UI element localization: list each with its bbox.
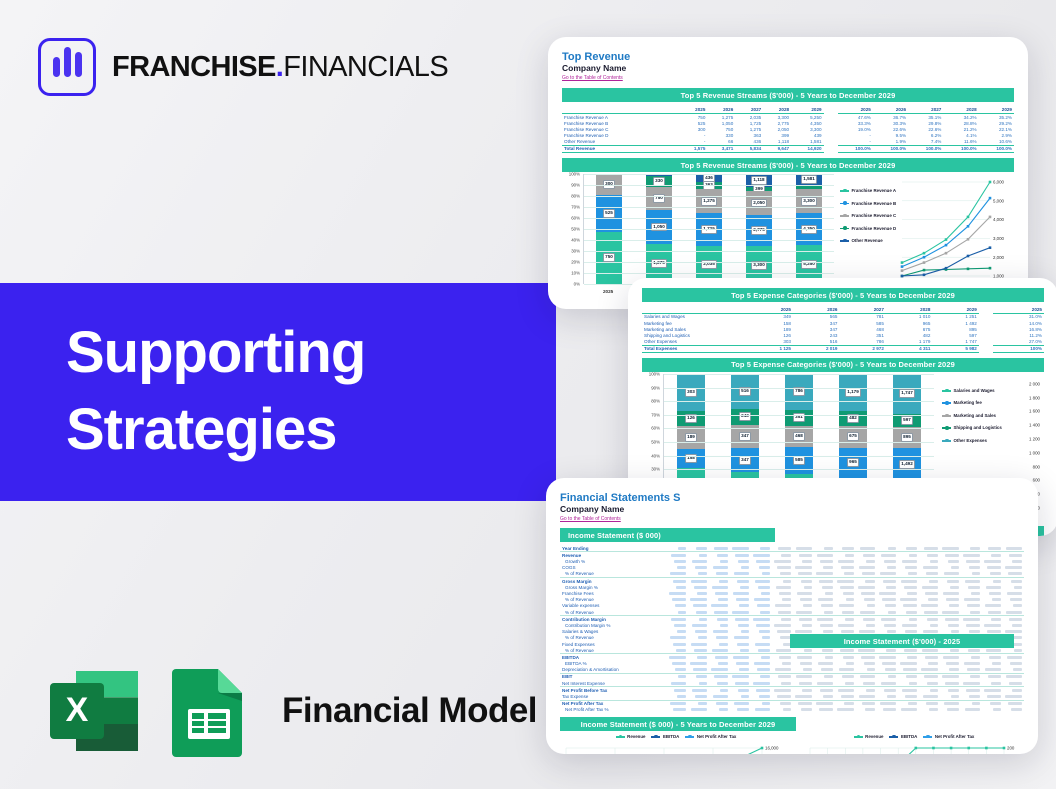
cell (877, 578, 898, 585)
cell (709, 552, 730, 559)
cell (751, 571, 772, 578)
legend-item: Shipping and Logistics (942, 425, 1004, 431)
cell (898, 597, 919, 603)
cell (772, 693, 793, 700)
bar-segment: 1,179 (839, 374, 867, 411)
cell (877, 707, 898, 713)
cell (919, 571, 940, 578)
table-row: Other Expenses 3035167861 1791 74727.0% (642, 339, 1044, 346)
cell (688, 654, 709, 661)
cell (877, 571, 898, 578)
legend-label: Net Profit After Tax (697, 734, 737, 740)
cell (814, 597, 835, 603)
cell (961, 667, 982, 674)
brand-wordmark: FRANCHISE.FINANCIALS (112, 51, 448, 84)
cell (961, 552, 982, 559)
y-tick-right: 1 400 (1029, 423, 1040, 428)
cell (1003, 545, 1024, 552)
y-tick: 2,000 (993, 255, 1005, 260)
cell (898, 616, 919, 623)
revenue-chart-band: Top 5 Revenue Streams ($'000) - 5 Years … (562, 158, 1014, 172)
cell (856, 565, 877, 571)
bar-segment: 516 (731, 374, 759, 409)
cell (793, 616, 814, 623)
bar-segment: 3,300 (796, 189, 822, 213)
cell (982, 578, 1003, 585)
cell (919, 578, 940, 585)
cell (772, 545, 793, 552)
y-tick: 6,000 (993, 180, 1005, 185)
cell (919, 680, 940, 687)
th-year: 2029 (791, 106, 824, 113)
table-total-row: Total Revenue 1,5753,4715,8349,64714,920… (562, 145, 1014, 152)
cell (919, 700, 940, 707)
revenue-table: 2025 2026 2027 2028 2029 2025 2026 2027 … (562, 106, 1014, 153)
bar-chart-logo-icon (38, 38, 96, 96)
y-tick: 80% (571, 194, 580, 199)
cell (709, 565, 730, 571)
legend-item: Revenue (616, 734, 646, 740)
cell (709, 673, 730, 680)
cell (919, 603, 940, 609)
legend-item: Marketing fee (942, 400, 1004, 406)
row-label: Year Ending (560, 545, 667, 552)
cell (856, 545, 877, 552)
bar-segment: 1,492 (893, 448, 921, 482)
y-tick: 70% (651, 412, 660, 417)
th-year-pct: 2028 (943, 106, 978, 113)
row-label: Net Interest Expense (560, 680, 667, 687)
table-row: Franchise Revenue A 7501,2752,0353,3005,… (562, 113, 1014, 120)
y-tick-right: 2 000 (1029, 381, 1040, 386)
cell (835, 571, 856, 578)
cell (1003, 647, 1024, 654)
cell (688, 609, 709, 616)
cell (751, 545, 772, 552)
income-5yr-line-chart: RevenueEBITDANet Profit After Tax 16,000… (560, 734, 792, 754)
cell (898, 707, 919, 713)
cell (898, 647, 919, 654)
cell (898, 700, 919, 707)
cell (919, 552, 940, 559)
revenue-company-name: Company Name (562, 63, 1014, 74)
cell (667, 700, 688, 707)
cell (1003, 565, 1024, 571)
cell (667, 635, 688, 641)
cell (835, 693, 856, 700)
cell (814, 661, 835, 667)
cell (730, 552, 751, 559)
cell (898, 609, 919, 616)
cell (772, 707, 793, 713)
cell (814, 707, 835, 713)
bar-segment: 1,275 (696, 189, 722, 213)
cell (688, 661, 709, 667)
cell (898, 687, 919, 694)
cell (709, 707, 730, 713)
bar-segment: 303 (677, 374, 705, 411)
cell (982, 609, 1003, 616)
revenue-table-band: Top 5 Revenue Streams ($'000) - 5 Years … (562, 88, 1014, 102)
cell (793, 680, 814, 687)
cell (793, 673, 814, 680)
cell (793, 590, 814, 596)
cell (751, 693, 772, 700)
cell (751, 647, 772, 654)
legend-label: Franchise Revenue B (852, 201, 897, 207)
legend-label: Marketing and Sales (954, 413, 996, 419)
cell (982, 622, 1003, 628)
revenue-line-chart: 6,0005,0004,0003,0002,0001,0002025202620… (898, 176, 1014, 290)
cell (877, 667, 898, 674)
table-row: Gross Margin (560, 578, 1024, 585)
cell (688, 597, 709, 603)
cell (793, 707, 814, 713)
bar-segment: 351 (785, 410, 813, 426)
cell (877, 647, 898, 654)
cell (709, 584, 730, 590)
cell (751, 616, 772, 623)
cell (898, 545, 919, 552)
brand-name-light: FINANCIALS (283, 51, 448, 83)
table-row: Year Ending (560, 545, 1024, 552)
cell (688, 571, 709, 578)
cell (898, 622, 919, 628)
y-tick: 30% (571, 249, 580, 254)
cell (982, 559, 1003, 565)
cell (961, 700, 982, 707)
income-statement-band: Income Statement ($ 000) (560, 528, 775, 542)
cell (688, 647, 709, 654)
cell (688, 707, 709, 713)
cell (877, 680, 898, 687)
cell (772, 571, 793, 578)
cell (772, 687, 793, 694)
cell (688, 693, 709, 700)
y-tick: 200 (1007, 745, 1015, 750)
cell (688, 622, 709, 628)
table-total-row: Total Expenses 1 1252 0192 9724 3115 982… (642, 345, 1044, 352)
bar-segment: 158 (677, 449, 705, 468)
bar-segment: 1,050 (646, 210, 672, 243)
cell (1003, 687, 1024, 694)
cell (688, 673, 709, 680)
revenue-chart-legend: Franchise Revenue AFranchise Revenue BFr… (840, 188, 898, 251)
cell (982, 616, 1003, 623)
y-tick: 14,000 (765, 752, 779, 754)
cell (688, 700, 709, 707)
cell (919, 616, 940, 623)
cell (751, 654, 772, 661)
cell (940, 673, 961, 680)
cell (898, 673, 919, 680)
y-tick: 0% (574, 282, 580, 287)
cell (730, 647, 751, 654)
income-2025-band: Income Statement ($'000) - 2025 (790, 634, 1014, 648)
legend-item: Franchise Revenue C (840, 213, 898, 219)
line-series (902, 217, 990, 271)
cell (856, 584, 877, 590)
cell (835, 647, 856, 654)
cell (898, 552, 919, 559)
cell (961, 680, 982, 687)
row-label: Tax Expense (560, 693, 667, 700)
cell (982, 700, 1003, 707)
cell (835, 687, 856, 694)
table-row: % of Revenue (560, 647, 1024, 654)
row-label: EBITDA (560, 654, 667, 661)
cell (772, 578, 793, 585)
cell (835, 545, 856, 552)
row-label: Depreciation & Amortisation (560, 667, 667, 674)
cell (961, 609, 982, 616)
cell (709, 647, 730, 654)
cell (877, 590, 898, 596)
cell (835, 603, 856, 609)
x-tick: 2025 (595, 289, 621, 294)
cell (835, 680, 856, 687)
cell (772, 559, 793, 565)
legend-label: Franchise Revenue C (852, 213, 897, 219)
cell (961, 654, 982, 661)
cell (940, 590, 961, 596)
cell (940, 552, 961, 559)
cell (709, 616, 730, 623)
table-row: Salaries and Wages 3495657811 0101 25131… (642, 313, 1044, 320)
cell (772, 603, 793, 609)
cell (772, 584, 793, 590)
cell (982, 707, 1003, 713)
legend-label: EBITDA (901, 734, 917, 740)
cell (919, 693, 940, 700)
legend-label: Shipping and Logistics (954, 425, 1002, 431)
cell (709, 693, 730, 700)
expense-table-band: Top 5 Expense Categories ($'000) - 5 Yea… (642, 288, 1044, 302)
cell (961, 673, 982, 680)
cell (709, 545, 730, 552)
th-year-pct: 2027 (908, 106, 943, 113)
income-2025-line-chart: RevenueEBITDANet Profit After Tax 200150… (804, 734, 1024, 754)
cell (940, 545, 961, 552)
cell (793, 700, 814, 707)
cell (667, 590, 688, 596)
th-year: 2027 (735, 106, 763, 113)
cell (898, 693, 919, 700)
cell (940, 609, 961, 616)
legend-label: EBITDA (663, 734, 679, 740)
cell (877, 654, 898, 661)
bar-segment: 2,775 (746, 215, 772, 247)
cell (856, 552, 877, 559)
cell (1003, 609, 1024, 616)
legend-label: Revenue (865, 734, 883, 740)
cell (940, 680, 961, 687)
microsoft-excel-icon: X (48, 665, 148, 757)
cell (688, 616, 709, 623)
cell (667, 571, 688, 578)
cell (982, 673, 1003, 680)
cell (877, 693, 898, 700)
cell (961, 571, 982, 578)
legend-label: Franchise Revenue A (852, 188, 897, 194)
cell (730, 687, 751, 694)
cell (898, 654, 919, 661)
cell (919, 707, 940, 713)
cell (793, 687, 814, 694)
legend-item: Salaries and Wages (942, 388, 1004, 394)
cell (667, 687, 688, 694)
row-label: % of Revenue (560, 609, 667, 616)
cell (772, 622, 793, 628)
cell (856, 647, 877, 654)
cell (688, 667, 709, 674)
financial-statements-sheet-card[interactable]: Financial Statements S Company Name Go t… (546, 478, 1038, 754)
line-series (810, 748, 1004, 754)
revenue-toc-link[interactable]: Go to the Table of Contents (562, 75, 1014, 81)
th-year: 2026 (707, 106, 735, 113)
th-year-pct: 2029 (979, 106, 1014, 113)
cell (898, 680, 919, 687)
cell (772, 667, 793, 674)
cell (961, 597, 982, 603)
cell (814, 616, 835, 623)
cell (940, 700, 961, 707)
cell (730, 707, 751, 713)
revenue-sheet-title: Top Revenue (562, 51, 1014, 63)
bar-segment: 786 (785, 374, 813, 410)
cell (751, 641, 772, 647)
cell (919, 609, 940, 616)
cell (793, 571, 814, 578)
revenue-chart-plot: 3005257503307501,0501,2754363631,2751,72… (583, 174, 834, 284)
cell (919, 687, 940, 694)
revenue-chart-y-axis: 100%90%80%70%60%50%40%30%20%10%0% (562, 174, 582, 284)
legend-item: Net Profit After Tax (685, 734, 736, 740)
cell (877, 673, 898, 680)
cell (1003, 571, 1024, 578)
format-badges: X Financial Model (48, 665, 537, 757)
legend-label: Other Expenses (954, 438, 987, 444)
cell (688, 545, 709, 552)
cell (919, 654, 940, 661)
cell (730, 571, 751, 578)
bar-segment: 1,581 (796, 174, 822, 186)
legend-item: Franchise Revenue A (840, 188, 898, 194)
cell (793, 578, 814, 585)
legend-label: Marketing fee (954, 400, 982, 406)
legend-item: Franchise Revenue D (840, 226, 898, 232)
cell (940, 578, 961, 585)
y-tick-right: 1 000 (1029, 450, 1040, 455)
cell (814, 693, 835, 700)
financial-toc-link[interactable]: Go to the Table of Contents (560, 516, 1024, 522)
cell (856, 616, 877, 623)
cell (856, 667, 877, 674)
row-label: % of Revenue (560, 647, 667, 654)
cell (751, 700, 772, 707)
cell (940, 707, 961, 713)
table-row: Net Profit After Tax (560, 700, 1024, 707)
cell (709, 609, 730, 616)
top-revenue-sheet-card[interactable]: Top Revenue Company Name Go to the Table… (548, 37, 1028, 309)
cell (751, 552, 772, 559)
cell (814, 647, 835, 654)
y-tick: 50% (571, 227, 580, 232)
row-label: Gross Margin (560, 578, 667, 585)
cell (688, 559, 709, 565)
y-tick: 4,000 (993, 217, 1005, 222)
expense-chart-legend: Salaries and WagesMarketing feeMarketing… (942, 388, 1004, 451)
y-tick: 90% (651, 385, 660, 390)
cell (961, 647, 982, 654)
cell (667, 647, 688, 654)
cell (982, 654, 1003, 661)
bar-segment: 895 (893, 427, 921, 447)
cell (688, 552, 709, 559)
cell (856, 673, 877, 680)
cell (709, 680, 730, 687)
cell (1003, 693, 1024, 700)
cell (667, 545, 688, 552)
cell (982, 667, 1003, 674)
page-title-line2: Strategies (66, 392, 536, 469)
cell (835, 616, 856, 623)
cell (814, 545, 835, 552)
cell (919, 584, 940, 590)
row-label: % of Revenue (560, 571, 667, 578)
cell (793, 552, 814, 559)
cell (814, 673, 835, 680)
cell (856, 707, 877, 713)
row-label: Revenue (560, 552, 667, 559)
cell (751, 597, 772, 603)
table-header-row: 2025 2026 2027 2028 2029 2025 (642, 306, 1044, 313)
bar-segment: 126 (677, 411, 705, 426)
cell (982, 693, 1003, 700)
cell (835, 552, 856, 559)
cell (688, 641, 709, 647)
cell (835, 622, 856, 628)
cell (835, 667, 856, 674)
cell (940, 647, 961, 654)
cell (940, 616, 961, 623)
row-label: Net Profit After Tax (560, 700, 667, 707)
cell (772, 700, 793, 707)
cell (856, 654, 877, 661)
cell (877, 552, 898, 559)
cell (709, 687, 730, 694)
cell (856, 609, 877, 616)
table-row: Revenue (560, 552, 1024, 559)
page-title-line1: Supporting (66, 315, 536, 392)
financial-sheet: Financial Statements S Company Name Go t… (546, 478, 1038, 754)
svg-text:X: X (66, 691, 89, 729)
cell (919, 647, 940, 654)
cell (835, 578, 856, 585)
bar-segment: 243 (731, 409, 759, 425)
table-row: Depreciation & Amortisation (560, 667, 1024, 674)
cell (772, 654, 793, 661)
cell (667, 654, 688, 661)
cell (667, 578, 688, 585)
cell (940, 693, 961, 700)
cell (751, 667, 772, 674)
revenue-sheet: Top Revenue Company Name Go to the Table… (548, 37, 1028, 309)
cell (982, 552, 1003, 559)
y-tick-right: 1 200 (1029, 437, 1040, 442)
financial-company-name: Company Name (560, 504, 1024, 515)
cell (688, 687, 709, 694)
